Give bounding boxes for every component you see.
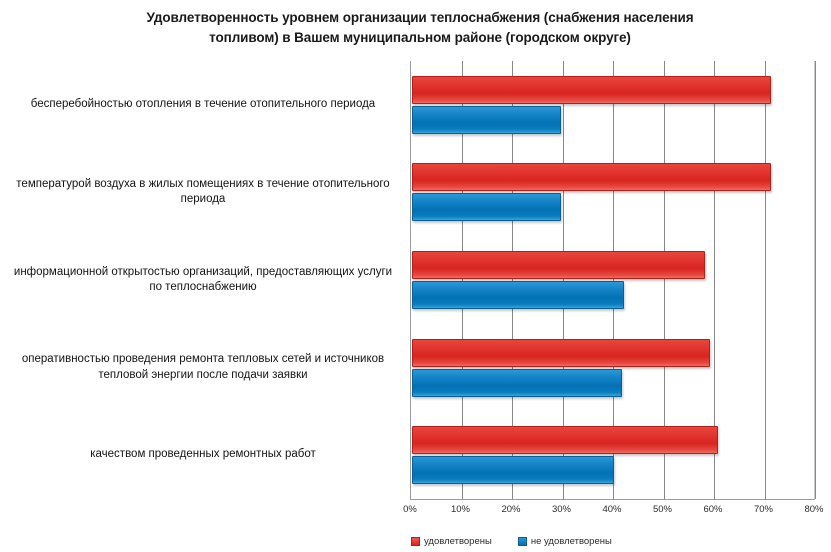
chart-container: Удовлетворенность уровнем организации те… xyxy=(0,0,831,552)
chart-title: Удовлетворенность уровнем организации те… xyxy=(100,8,740,48)
category-axis-labels: бесперебойностью отопления в течение ото… xyxy=(0,61,410,500)
gridline xyxy=(765,61,766,499)
x-tick-70pct: 70% xyxy=(744,504,784,515)
gridline xyxy=(815,61,816,499)
bar-1-not-satisfied[interactable] xyxy=(412,106,561,134)
category-label-4-line-1: оперативностью проведения ремонта теплов… xyxy=(0,352,406,368)
bar-3-not-satisfied[interactable] xyxy=(412,281,624,309)
bar-1-satisfied[interactable] xyxy=(412,76,771,104)
category-label-1-line-1: бесперебойностью отопления в течение ото… xyxy=(0,97,406,113)
bar-4-not-satisfied[interactable] xyxy=(412,369,622,397)
x-tick-80pct: 80% xyxy=(794,504,831,515)
bar-5-not-satisfied[interactable] xyxy=(412,456,614,484)
bar-5-satisfied[interactable] xyxy=(412,426,718,454)
x-axis-tick-labels: 0%10%20%30%40%50%60%70%80% xyxy=(410,501,815,521)
category-label-5: качеством проведенных ремонтных работ xyxy=(0,447,406,463)
category-label-3-line-2: по теплоснабжению xyxy=(0,280,406,296)
category-label-4: оперативностью проведения ремонта теплов… xyxy=(0,352,406,383)
x-tick-10pct: 10% xyxy=(441,504,481,515)
x-tick-50pct: 50% xyxy=(643,504,683,515)
legend-label: удовлетворены xyxy=(424,536,492,547)
category-label-2-line-2: периода xyxy=(0,192,406,208)
category-label-4-line-2: тепловой энергии после подачи заявки xyxy=(0,368,406,384)
legend-swatch-blue-icon xyxy=(518,537,527,546)
chart-legend: удовлетвореныне удовлетворены xyxy=(410,533,816,549)
plot-area xyxy=(410,61,815,500)
category-label-3: информационной открытостью организаций, … xyxy=(0,265,406,296)
x-tick-20pct: 20% xyxy=(491,504,531,515)
category-label-3-line-1: информационной открытостью организаций, … xyxy=(0,265,406,281)
chart-title-line-1: Удовлетворенность уровнем организации те… xyxy=(100,8,740,28)
bar-3-satisfied[interactable] xyxy=(412,251,705,279)
x-tick-30pct: 30% xyxy=(542,504,582,515)
bar-2-not-satisfied[interactable] xyxy=(412,193,561,221)
category-label-5-line-1: качеством проведенных ремонтных работ xyxy=(0,447,406,463)
chart-title-line-2: топливом) в Вашем муниципальном районе (… xyxy=(100,28,740,48)
legend-item-satisfied[interactable]: удовлетворены xyxy=(411,536,492,547)
x-tick-60pct: 60% xyxy=(693,504,733,515)
category-label-2: температурой воздуха в жилых помещениях … xyxy=(0,177,406,208)
legend-label: не удовлетворены xyxy=(531,536,612,547)
category-label-2-line-1: температурой воздуха в жилых помещениях … xyxy=(0,177,406,193)
category-label-1: бесперебойностью отопления в течение ото… xyxy=(0,97,406,113)
legend-item-not-satisfied[interactable]: не удовлетворены xyxy=(518,536,612,547)
x-tick-0pct: 0% xyxy=(390,504,430,515)
bar-2-satisfied[interactable] xyxy=(412,163,771,191)
x-tick-40pct: 40% xyxy=(592,504,632,515)
bar-4-satisfied[interactable] xyxy=(412,339,710,367)
legend-swatch-red-icon xyxy=(411,537,420,546)
